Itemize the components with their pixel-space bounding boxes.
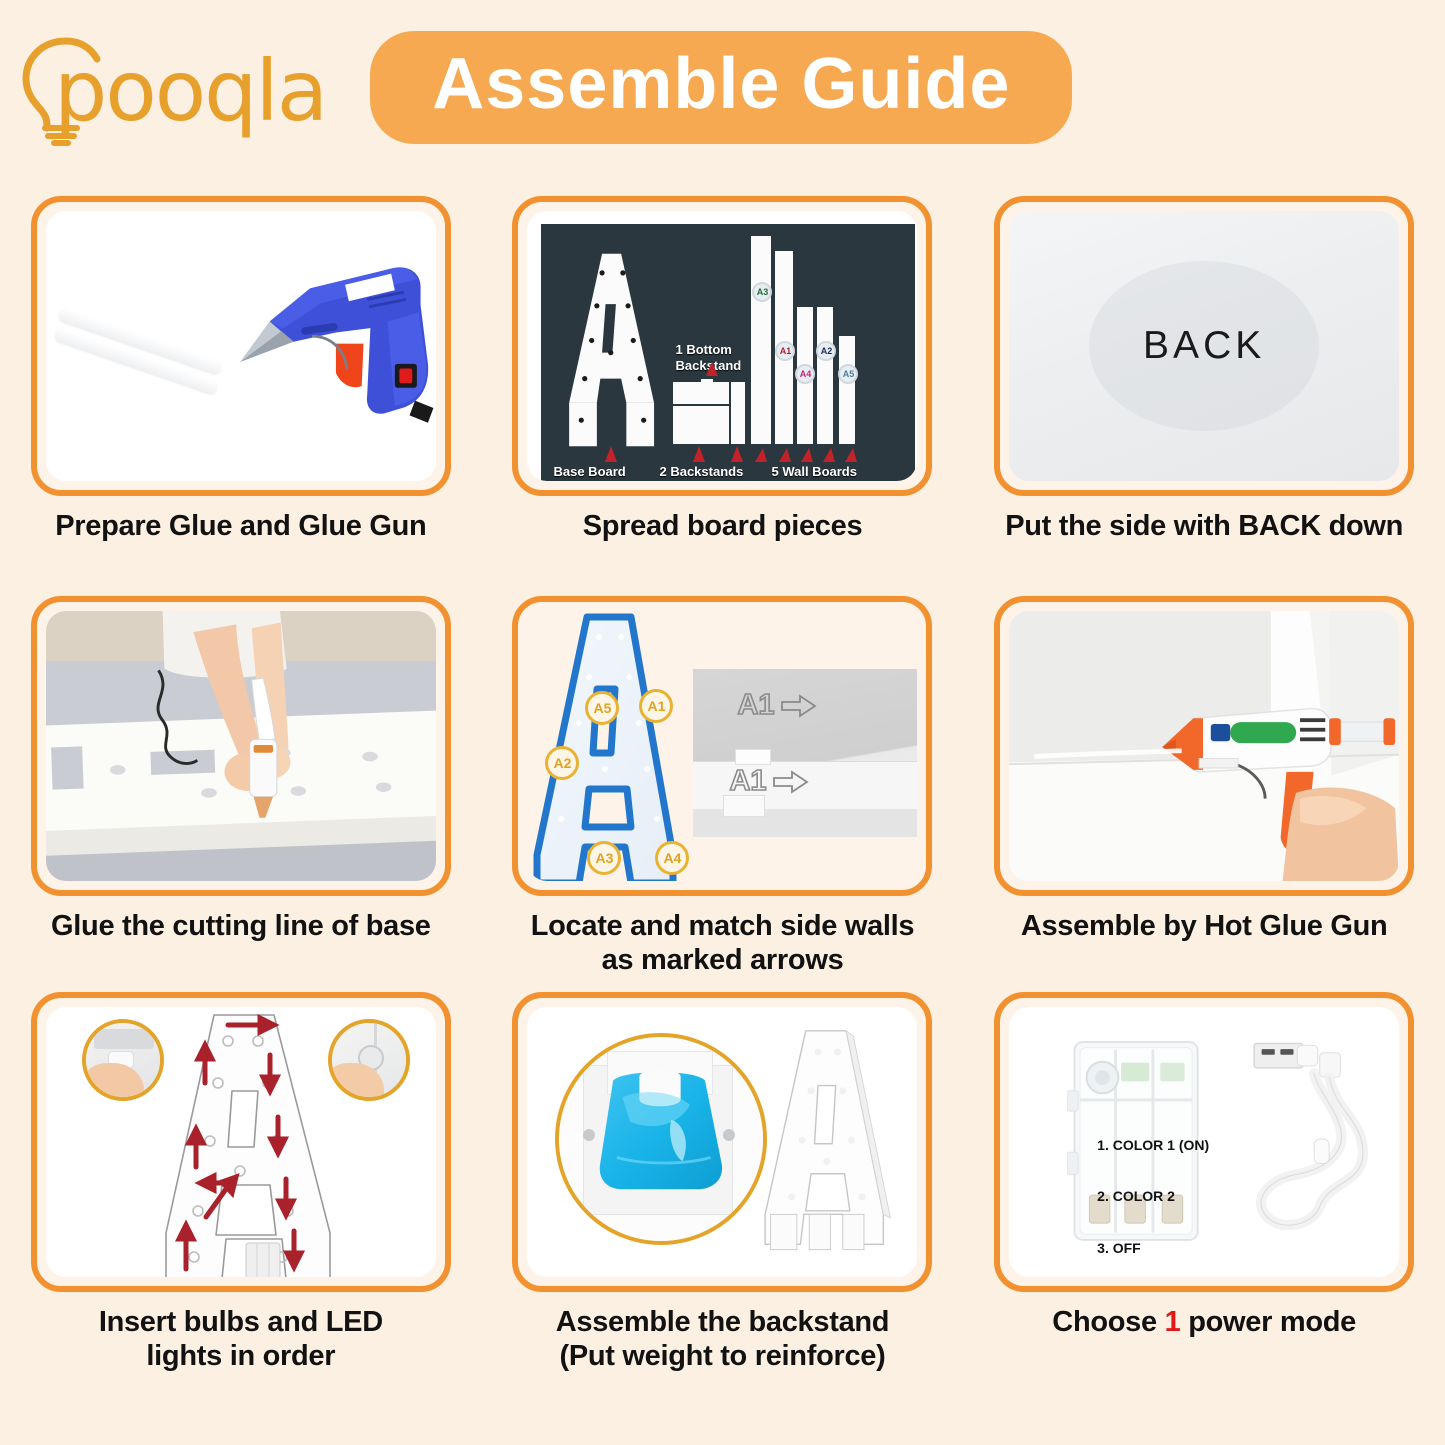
step-4-image-frame xyxy=(31,596,451,896)
step-1-image-frame xyxy=(31,196,451,496)
arrow-right-icon xyxy=(780,693,818,719)
step-card-5: A5 A1 A2 A3 A4 xyxy=(482,596,964,992)
step-7-caption: Insert bulbs and LED lights in order xyxy=(99,1305,383,1373)
back-watermark-circle: BACK xyxy=(1089,261,1319,431)
step-6-caption: Assemble by Hot Glue Gun xyxy=(1021,909,1388,943)
base-board-label: Base Board xyxy=(553,464,625,479)
header: pooqla Assemble Guide xyxy=(0,0,1445,185)
battery-box-and-usb-cable-photo: 1. COLOR 1 (ON) 2. COLOR 2 3. OFF xyxy=(1009,1007,1399,1277)
step-2-image-frame: 1 Bottom Backstand xyxy=(512,196,932,496)
white-board-surface: BACK xyxy=(1009,211,1399,481)
brand-logo: pooqla xyxy=(14,29,326,149)
steps-grid: Prepare Glue and Glue Gun xyxy=(0,196,1445,1392)
back-label: BACK xyxy=(1143,324,1265,368)
step-3-caption: Put the side with BACK down xyxy=(1005,509,1403,543)
power-mode-list: 1. COLOR 1 (ON) 2. COLOR 2 3. OFF xyxy=(1097,1103,1209,1277)
power-mode-2: 2. COLOR 2 xyxy=(1097,1188,1209,1205)
assembled-letter-a-icon xyxy=(751,1019,901,1265)
usb-cable-icon xyxy=(1241,1029,1391,1251)
power-mode-1: 1. COLOR 1 (ON) xyxy=(1097,1137,1209,1154)
step-9-caption: Choose 1 power mode xyxy=(1052,1305,1356,1339)
step-3-image-frame: BACK xyxy=(994,196,1414,496)
tighten-bulb-inset-photo xyxy=(328,1019,410,1101)
back-side-board-photo: BACK xyxy=(1009,211,1399,481)
glue-gun-icon xyxy=(174,233,436,445)
step-4-caption: Glue the cutting line of base xyxy=(51,909,431,943)
step-9-image-frame: 1. COLOR 1 (ON) 2. COLOR 2 3. OFF xyxy=(994,992,1414,1292)
power-mode-3: 3. OFF xyxy=(1097,1240,1209,1257)
step-card-3: BACK Put the side with BACK down xyxy=(963,196,1445,596)
water-weight-bag-inset xyxy=(555,1033,767,1245)
step-card-4: Glue the cutting line of base xyxy=(0,596,482,992)
glue-gun-corner-scene xyxy=(1009,611,1399,881)
brand-name: pooqla xyxy=(54,49,326,133)
a1-marking-photo: A1 A1 xyxy=(693,669,917,837)
step-5-image-frame: A5 A1 A2 A3 A4 xyxy=(512,596,932,896)
power-mode-count: 1 xyxy=(1165,1306,1181,1338)
step-1-caption: Prepare Glue and Glue Gun xyxy=(55,509,426,543)
insert-bulb-inset-photo xyxy=(82,1019,164,1101)
step-5-caption: Locate and match side walls as marked ar… xyxy=(531,909,915,977)
blue-water-bag-icon xyxy=(585,1067,735,1199)
step-card-1: Prepare Glue and Glue Gun xyxy=(0,196,482,596)
step-2-caption: Spread board pieces xyxy=(583,509,863,543)
step-card-2: 1 Bottom Backstand xyxy=(482,196,964,596)
step-6-image-frame xyxy=(994,596,1414,896)
gluing-scene-illustration xyxy=(46,611,436,881)
arrow-right-icon xyxy=(772,769,810,795)
page-title-pill: Assemble Guide xyxy=(370,31,1072,145)
board-pieces-diagram: 1 Bottom Backstand xyxy=(527,211,917,481)
step-8-image-frame xyxy=(512,992,932,1292)
gluing-base-cutting-line-photo xyxy=(46,611,436,881)
glue-gun-and-glue-sticks-photo xyxy=(46,211,436,481)
assemble-guide-page: pooqla Assemble Guide xyxy=(0,0,1445,1445)
pointer-arrows-icon xyxy=(541,224,915,481)
step-card-8: Assemble the backstand (Put weight to re… xyxy=(482,992,964,1392)
board-diagram-canvas: 1 Bottom Backstand xyxy=(541,224,915,481)
step-card-9: 1. COLOR 1 (ON) 2. COLOR 2 3. OFF xyxy=(963,992,1445,1392)
step-7-image-frame xyxy=(31,992,451,1292)
backstands-label: 2 Backstands xyxy=(659,464,743,479)
bulb-insert-order-diagram xyxy=(46,1007,436,1277)
a1-mark-lower: A1 xyxy=(729,765,766,798)
step-8-caption: Assemble the backstand (Put weight to re… xyxy=(556,1305,889,1373)
page-title: Assemble Guide xyxy=(432,47,1010,123)
step-card-7: Insert bulbs and LED lights in order xyxy=(0,992,482,1392)
letter-a-side-wall-map: A5 A1 A2 A3 A4 xyxy=(527,611,917,881)
backstand-weight-photo xyxy=(527,1007,917,1277)
hot-glue-gun-assembly-photo xyxy=(1009,611,1399,881)
a1-mark-upper: A1 xyxy=(737,689,774,722)
wall-badge-a4: A4 xyxy=(655,841,689,875)
step-card-6: Assemble by Hot Glue Gun xyxy=(963,596,1445,992)
wall-boards-label: 5 Wall Boards xyxy=(771,464,856,479)
